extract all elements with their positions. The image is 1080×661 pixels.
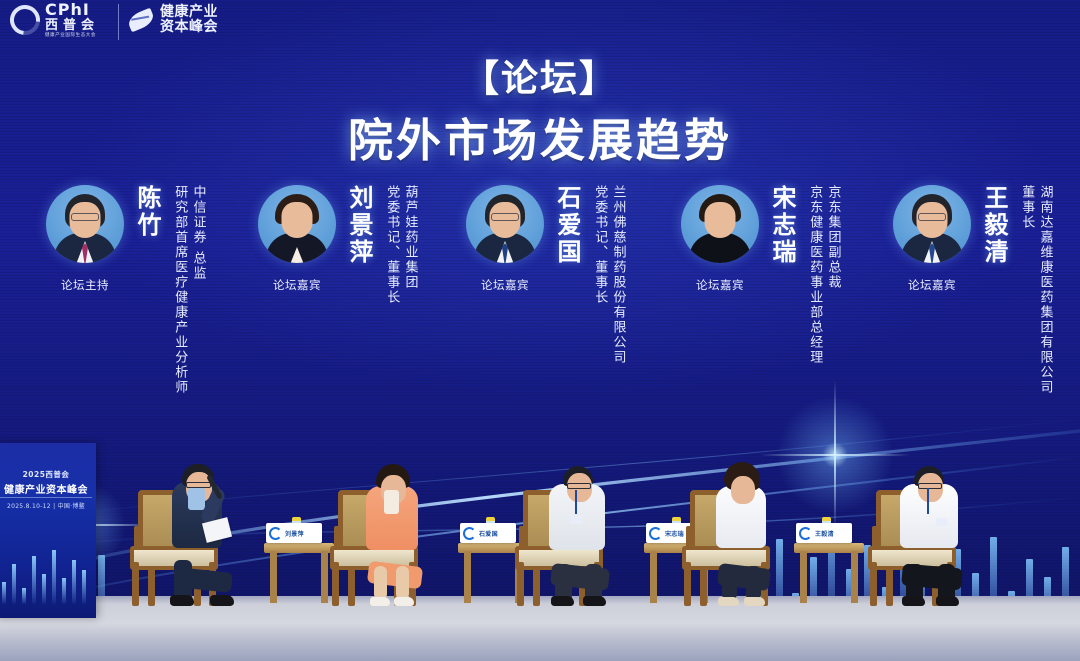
panelist-name: 王毅清 (977, 185, 1012, 266)
panelist-org-line: 兰州佛慈制药股份有限公司 (609, 185, 625, 365)
cphi-logo-line2: 西普会 (45, 19, 99, 32)
forum-title-line1: 【论坛】 (0, 48, 1080, 102)
avatar (46, 185, 124, 263)
cphi-logo-line3: 健康产业国际生态大会 (45, 34, 99, 39)
plate-logo-icon (649, 527, 662, 540)
summit-logo: 健康产业 资本峰会 (128, 5, 218, 34)
panelist-card: 论坛嘉宾 王毅清 董事长 湖南达嘉维康医药集团有限公司 (893, 185, 1053, 395)
lanyard (927, 488, 929, 514)
panelist-org-line: 葫芦娃药业集团 (401, 185, 417, 305)
podium-divider (0, 497, 92, 498)
cphi-logo-line1: CPhI (45, 2, 99, 18)
podium-line2: 健康产业资本峰会 (0, 481, 94, 496)
forum-title-line2: 院外市场发展趋势 (0, 104, 1080, 169)
seated-person (882, 446, 997, 606)
panelist-org-line: 湖南达嘉维康医药集团有限公司 (1036, 185, 1052, 395)
panelist-org-line: 党委书记、董事长 (383, 185, 399, 305)
panelist-org-line: 中信证券 总监 (189, 185, 205, 395)
name-plate: 王毅清 (796, 523, 852, 543)
panelist-org-line: 京东集团副总裁 (824, 185, 840, 365)
plate-logo-icon (269, 527, 282, 540)
name-plate-text: 石爱国 (479, 529, 498, 538)
lanyard (575, 490, 577, 514)
panelist-role: 论坛嘉宾 (681, 277, 759, 293)
panelist-org-line: 董事长 (1018, 185, 1034, 395)
panelist-name: 宋志瑞 (765, 185, 800, 266)
panelist-role: 论坛嘉宾 (258, 277, 336, 293)
panelist-card: 论坛嘉宾 刘景萍 党委书记、董事长 葫芦娃药业集团 (258, 185, 418, 305)
panelist-card: 论坛嘉宾 石爱国 党委书记、董事长 兰州佛慈制药股份有限公司 (466, 185, 626, 365)
panelist-role: 论坛嘉宾 (466, 277, 544, 293)
podium-line1: 2025西普会 (2, 469, 90, 480)
summit-logo-line1: 健康产业 (160, 5, 218, 20)
badge-icon (936, 518, 947, 526)
panelist-cards: 论坛主持 陈竹 研究部首席医疗健康产业分析师 中信证券 总监 论坛嘉宾 刘景萍 … (0, 185, 1080, 435)
side-table (794, 499, 864, 603)
panelist-role: 论坛主持 (46, 277, 124, 293)
panelist-name: 石爱国 (550, 185, 585, 266)
plate-logo-icon (463, 527, 476, 540)
logo-divider (118, 4, 119, 40)
panelist-org-line: 党委书记、董事长 (591, 185, 607, 365)
seated-person (344, 446, 454, 606)
cphi-ring-icon (4, 0, 46, 41)
panelist-name: 陈竹 (130, 185, 165, 239)
panelist-role: 论坛嘉宾 (893, 277, 971, 293)
name-plate: 刘景萍 (266, 523, 322, 543)
seated-person (148, 446, 258, 606)
event-logo-bar: CPhI 西普会 健康产业国际生态大会 健康产业 资本峰会 (0, 0, 1080, 48)
panelist-org-line: 研究部首席医疗健康产业分析师 (171, 185, 187, 395)
panelist-card: 论坛主持 陈竹 研究部首席医疗健康产业分析师 中信证券 总监 (46, 185, 206, 395)
seated-person (529, 446, 639, 606)
podium-bar-motif (0, 544, 96, 604)
name-plate-text: 刘景萍 (285, 529, 304, 538)
panelist-name: 刘景萍 (342, 185, 377, 266)
panelist-card: 论坛嘉宾 宋志瑞 京东健康医药事业部总经理 京东集团副总裁 (681, 185, 841, 365)
panelist-org-line: 京东健康医药事业部总经理 (806, 185, 822, 365)
avatar (681, 185, 759, 263)
badge-icon (571, 516, 582, 524)
cphi-logo: CPhI 西普会 健康产业国际生态大会 (10, 2, 99, 39)
conference-stage-photo: CPhI 西普会 健康产业国际生态大会 健康产业 资本峰会 【论坛】 院外市场发… (0, 0, 1080, 661)
name-plate-text: 王毅清 (815, 529, 834, 538)
avatar (466, 185, 544, 263)
forum-title: 【论坛】 院外市场发展趋势 (0, 48, 1080, 169)
avatar (258, 185, 336, 263)
podium-banner: 2025西普会 健康产业资本峰会 2025.8.10-12 | 中国·博鳌 (0, 443, 96, 618)
leaf-icon (126, 7, 156, 32)
podium-date: 2025.8.10-12 | 中国·博鳌 (0, 501, 94, 510)
plate-logo-icon (799, 527, 812, 540)
seat-group (856, 436, 1026, 606)
avatar (893, 185, 971, 263)
summit-logo-line2: 资本峰会 (160, 20, 218, 35)
